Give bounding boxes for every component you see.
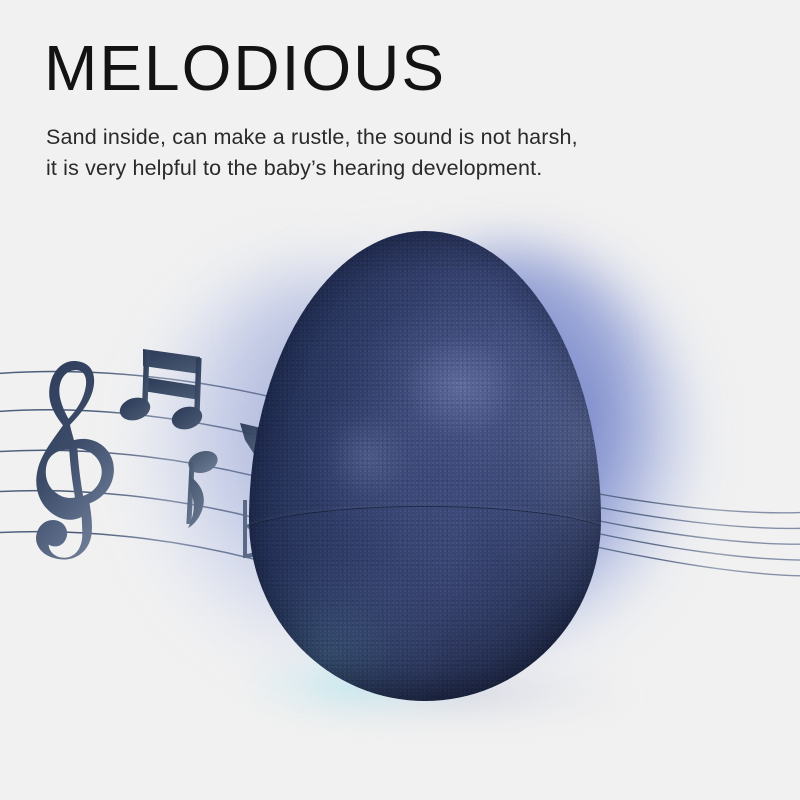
description-line-1: Sand inside, can make a rustle, the soun…	[46, 122, 686, 153]
product-egg-shaker[interactable]	[249, 231, 601, 701]
egg-surface-texture	[249, 231, 601, 701]
product-banner: MELODIOUS Sand inside, can make a rustle…	[0, 0, 800, 800]
description-line-2: it is very helpful to the baby’s hearing…	[46, 153, 686, 184]
page-title: MELODIOUS	[44, 36, 446, 100]
egg-seam-line	[249, 506, 601, 578]
product-description: Sand inside, can make a rustle, the soun…	[46, 122, 686, 184]
